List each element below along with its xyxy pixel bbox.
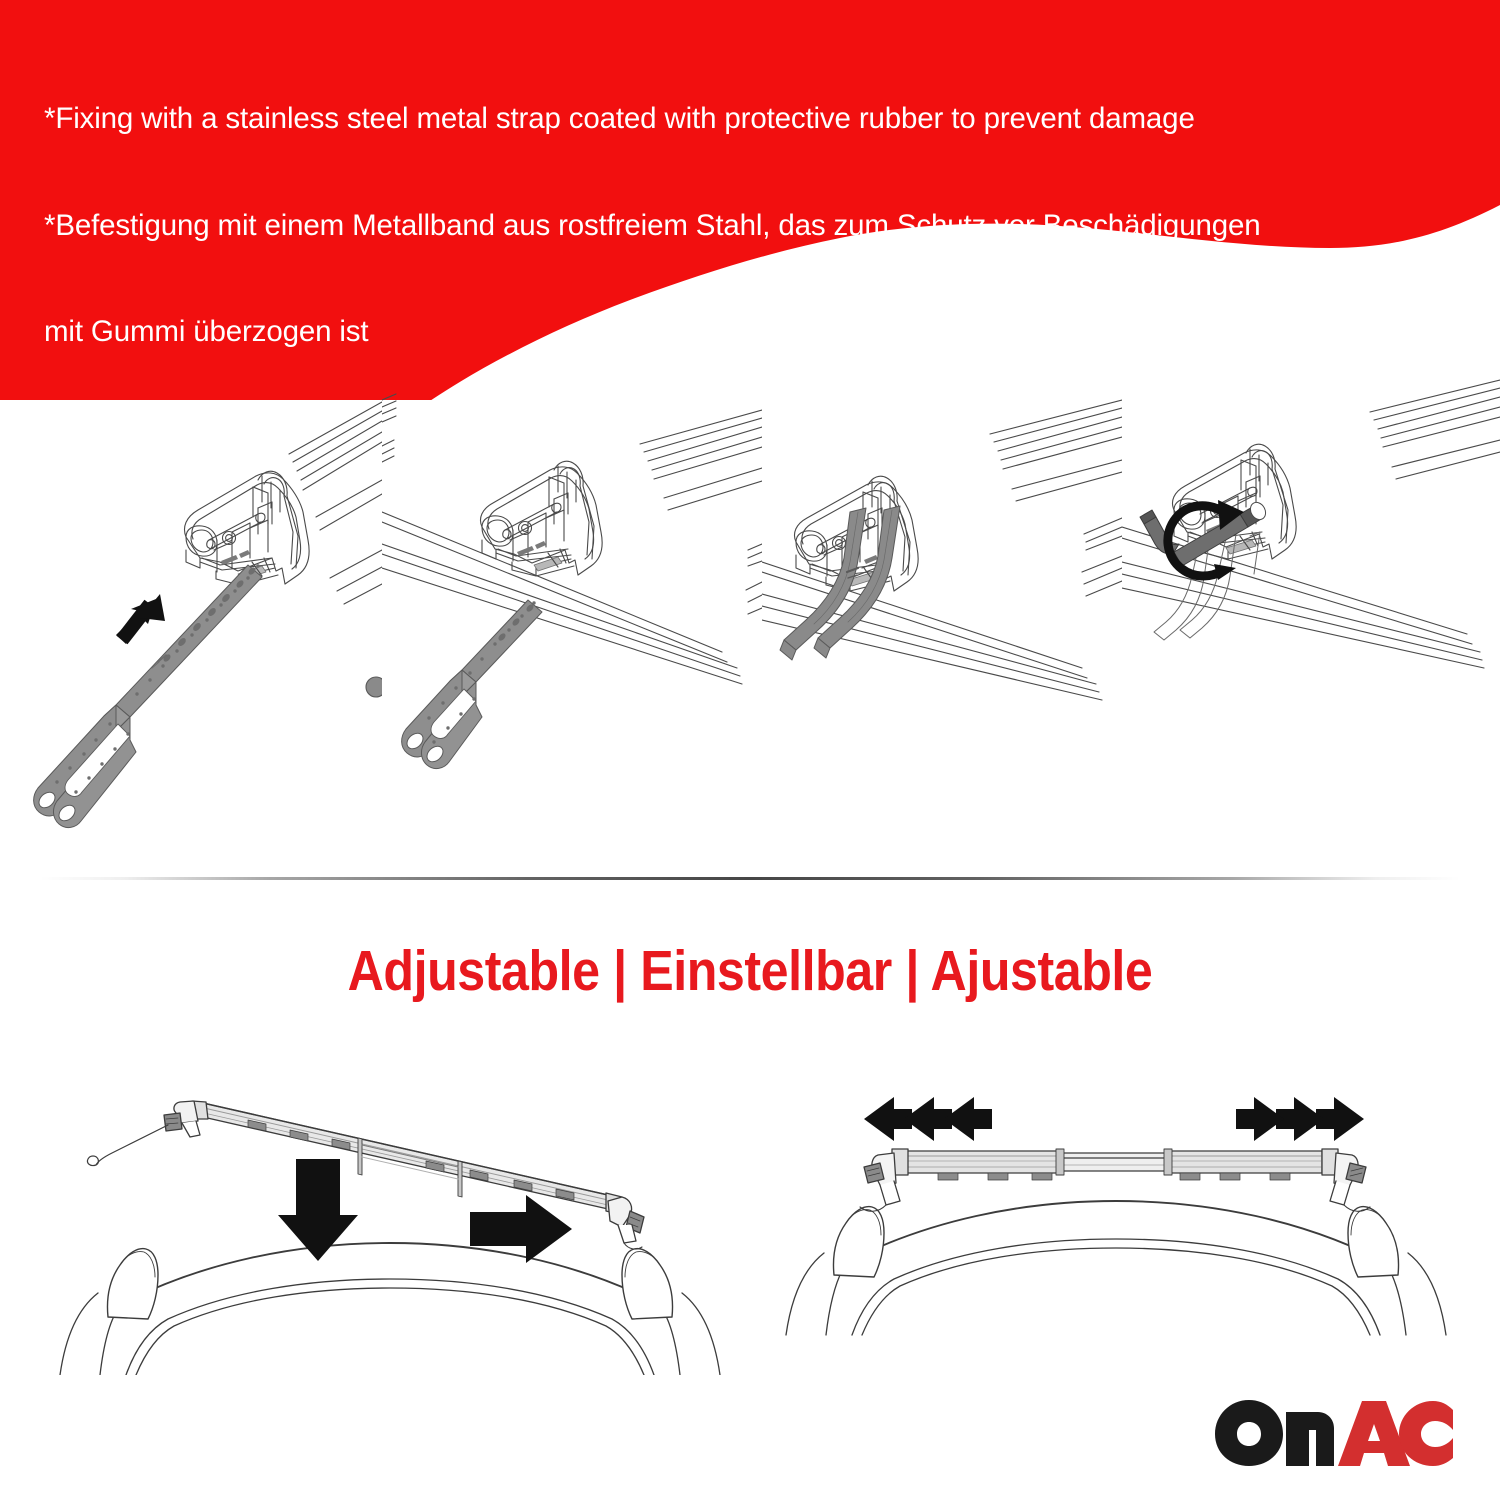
roof-side-rail-right (1348, 1207, 1399, 1277)
panel-edge-lines-right (1082, 518, 1122, 596)
triple-left-arrow-icon (864, 1097, 992, 1141)
right-arrow-icon (470, 1195, 572, 1263)
header-line-3: mit Gummi überzogen ist (44, 314, 1444, 350)
roof-rail-lines (330, 550, 382, 604)
safety-cable (87, 1125, 168, 1166)
vehicle-roof-outline (60, 1243, 720, 1375)
adjustable-illustrations-row (0, 1075, 1500, 1375)
down-arrow-icon (278, 1159, 358, 1261)
adjustable-section-title: Adjustable | Einstellbar | Ajustable (90, 938, 1410, 1004)
rack-foot-body (480, 461, 602, 576)
crossbar-left-foot (860, 1149, 908, 1211)
adjust-lower-panel (40, 1075, 740, 1375)
adjust-width-illustration (760, 1075, 1460, 1375)
logo-letter-m (1286, 1412, 1334, 1466)
adjust-lower-illustration (40, 1075, 740, 1375)
header-line-2: *Befestigung mit einem Metallband aus ro… (44, 208, 1444, 244)
adjust-width-panel (760, 1075, 1460, 1375)
crossbar-profile (1370, 380, 1500, 479)
panel-edge-detail (366, 677, 382, 697)
stainless-steel-strap (402, 600, 542, 769)
roof-side-rail-left (834, 1207, 885, 1277)
install-steps-row (0, 372, 1500, 872)
install-step-1-illustration (0, 372, 382, 872)
install-step-3-illustration (762, 372, 1122, 872)
crossbar-right-foot (1322, 1149, 1370, 1211)
vehicle-roof-rail (382, 512, 742, 684)
roof-side-rail-left (108, 1249, 159, 1319)
crossbar-profile (640, 410, 762, 510)
omac-logo (1214, 1394, 1454, 1466)
roof-side-rail-right (622, 1249, 673, 1319)
header-line-1: *Fixing with a stainless steel metal str… (44, 101, 1444, 137)
omac-logo-mark (1214, 1394, 1454, 1466)
install-step-4-illustration (1122, 372, 1500, 872)
install-step-1-panel (0, 372, 382, 872)
section-divider (0, 872, 1500, 886)
crossbar-right-foot (606, 1193, 644, 1249)
install-step-2-panel (382, 372, 762, 872)
crossbar-profile (990, 400, 1122, 501)
panel-edge-lines-left (382, 394, 396, 462)
crossbar-left-foot (164, 1101, 208, 1137)
install-step-3-panel (762, 372, 1122, 872)
install-step-2-illustration (382, 372, 762, 872)
crossbar-assembly (164, 1101, 644, 1249)
vehicle-roof-outline (786, 1201, 1446, 1335)
logo-letter-c (1399, 1401, 1453, 1466)
logo-letter-o (1215, 1400, 1283, 1466)
up-arrow-icon (116, 594, 165, 644)
panel-edge-lines-right (746, 544, 762, 614)
triple-right-arrow-icon (1236, 1097, 1364, 1141)
install-step-4-panel (1122, 372, 1500, 872)
